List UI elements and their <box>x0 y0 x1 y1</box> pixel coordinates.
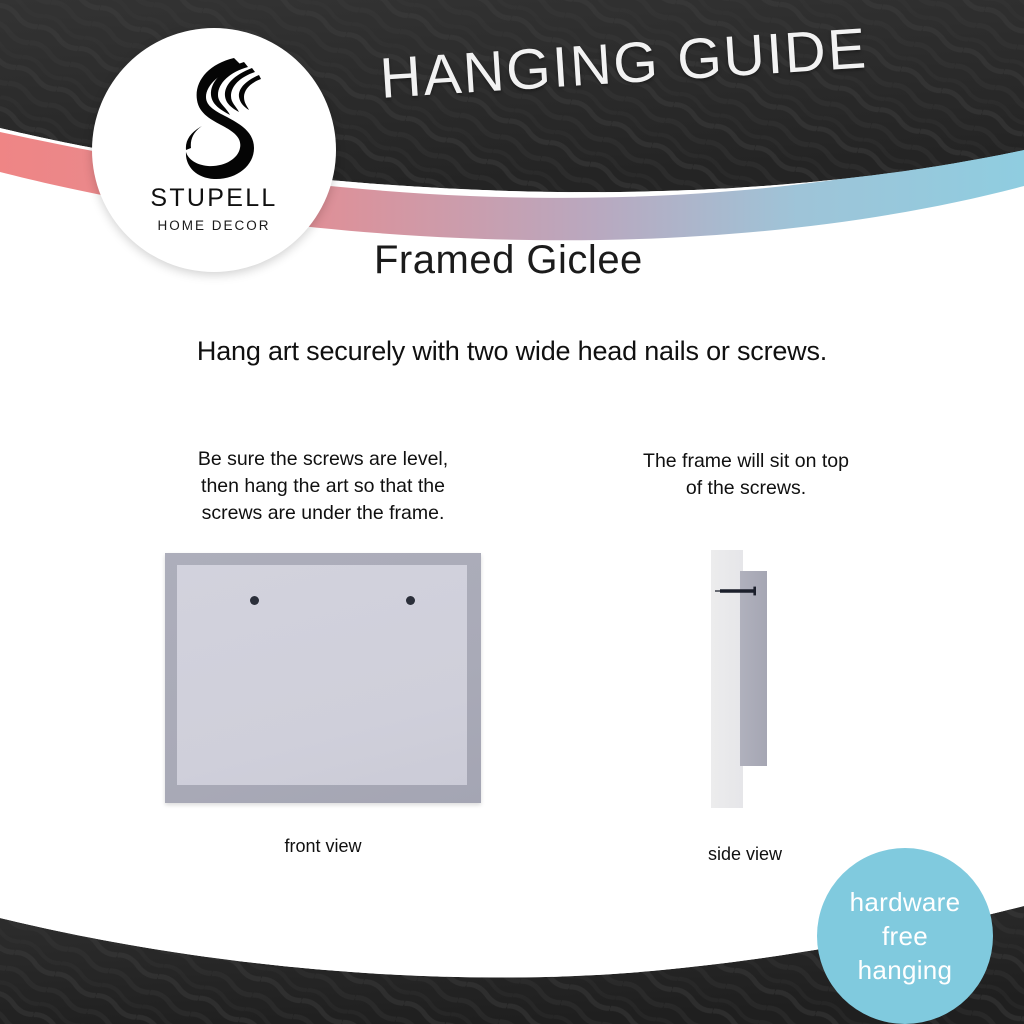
front-view-caption: Be sure the screws are level, then hang … <box>163 446 483 527</box>
front-view-caption-line-1: Be sure the screws are level, <box>163 446 483 473</box>
hardware-free-hanging-badge: hardware free hanging <box>817 848 993 1024</box>
product-type-label: Framed Giclee <box>374 238 643 283</box>
side-view-caption-line-2: of the screws. <box>600 475 892 502</box>
page-title: HANGING GUIDE <box>378 15 870 112</box>
nail-side-profile-icon <box>714 586 762 596</box>
front-view-label: front view <box>165 836 481 857</box>
brand-logo-badge: STUPELL HOME DECOR <box>92 28 336 272</box>
screw-dot-left-icon <box>250 596 259 605</box>
frame-art-panel <box>177 565 467 785</box>
badge-line-1: hardware <box>850 885 961 919</box>
front-view-caption-line-2: then hang the art so that the <box>163 473 483 500</box>
side-view-caption-line-1: The frame will sit on top <box>600 448 892 475</box>
side-view-caption: The frame will sit on top of the screws. <box>600 448 892 502</box>
side-view-diagram <box>705 545 785 810</box>
brand-name: STUPELL <box>150 186 277 211</box>
main-instruction-text: Hang art securely with two wide head nai… <box>0 336 1024 367</box>
front-view-caption-line-3: screws are under the frame. <box>163 500 483 527</box>
hanging-guide-page: STUPELL HOME DECOR HANGING GUIDE Framed … <box>0 0 1024 1024</box>
front-view-frame-diagram <box>165 553 481 803</box>
screw-dot-right-icon <box>406 596 415 605</box>
stupell-swirl-logo-icon <box>160 54 268 182</box>
side-view-frame <box>740 571 767 766</box>
brand-tagline: HOME DECOR <box>157 219 270 233</box>
badge-line-2: free <box>882 919 928 953</box>
badge-line-3: hanging <box>858 953 953 987</box>
side-view-label: side view <box>660 844 830 865</box>
